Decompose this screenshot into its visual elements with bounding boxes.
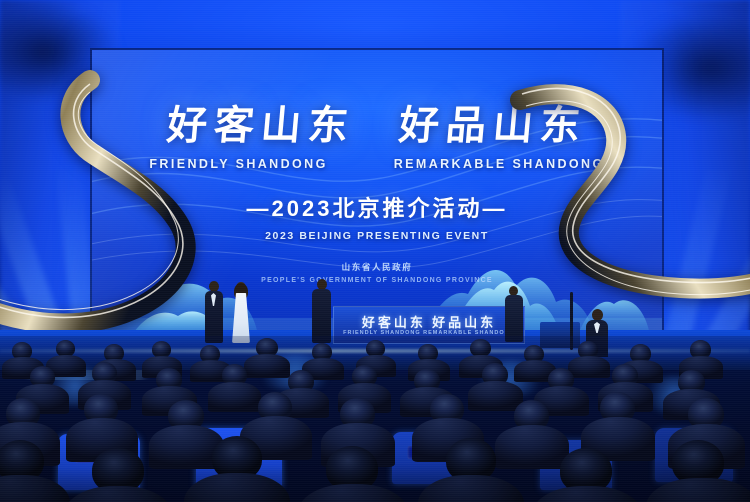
stage-guest bbox=[505, 286, 523, 342]
podium-banner-chinese: 好客山东 好品山东 bbox=[334, 312, 524, 331]
stage-guest-body bbox=[505, 295, 523, 342]
audience-area bbox=[0, 336, 750, 502]
stage-attendant-body bbox=[312, 289, 331, 343]
headline-cn-left: 好客山东 bbox=[165, 106, 356, 146]
event-line-chinese: —2023北京推介活动— bbox=[92, 191, 662, 223]
female-host bbox=[230, 282, 252, 343]
led-backdrop-screen: 好客山东 好品山东 FRIENDLY SHANDONG REMARKABLE S… bbox=[92, 50, 662, 335]
headline-english: FRIENDLY SHANDONG REMARKABLE SHANDONG bbox=[92, 157, 662, 171]
screen-title-block: 好客山东 好品山东 FRIENDLY SHANDONG REMARKABLE S… bbox=[92, 106, 662, 284]
headline-chinese: 好客山东 好品山东 bbox=[92, 106, 662, 146]
headline-cn-right: 好品山东 bbox=[397, 106, 588, 146]
organizer-chinese: 山东省人民政府 bbox=[92, 261, 662, 273]
organizer-english: PEOPLE'S GOVERNMENT OF SHANDONG PROVINCE bbox=[92, 277, 662, 284]
male-host bbox=[204, 281, 224, 343]
event-stage-photo: 好客山东 好品山东 FRIENDLY SHANDONG REMARKABLE S… bbox=[0, 0, 750, 502]
stage-attendant bbox=[312, 279, 331, 343]
headline-en-right: REMARKABLE SHANDONG bbox=[394, 157, 605, 171]
headline-en-left: FRIENDLY SHANDONG bbox=[149, 157, 327, 171]
event-line-english: 2023 BEIJING PRESENTING EVENT bbox=[92, 230, 662, 242]
